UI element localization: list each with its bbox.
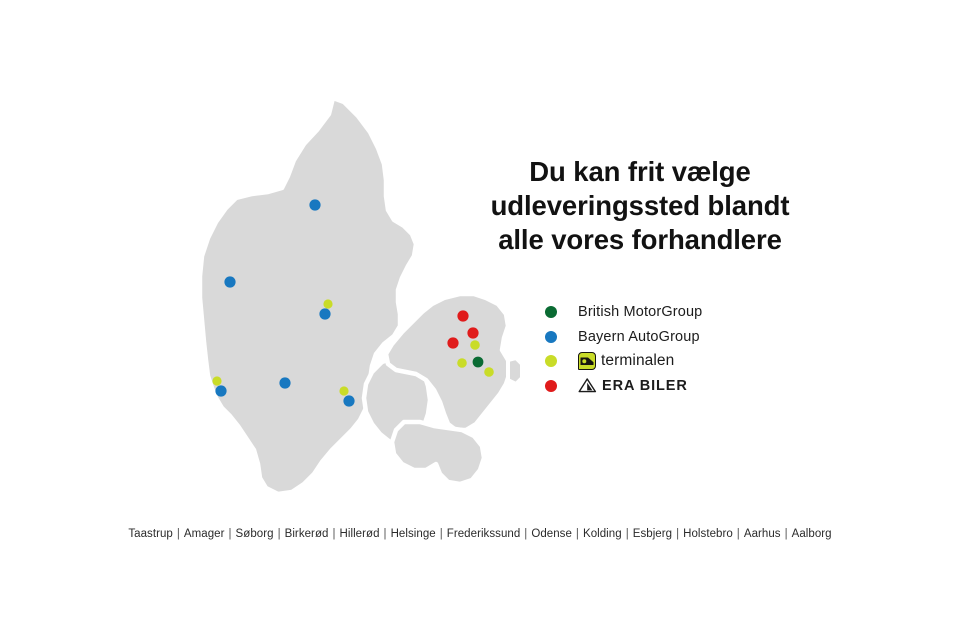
city-separator: |	[781, 528, 791, 540]
city-separator: |	[733, 528, 743, 540]
city-name[interactable]: Esbjerg	[632, 528, 672, 540]
city-name[interactable]: Søborg	[235, 528, 274, 540]
legend-item-bayern-autogroup[interactable]: Bayern AutoGroup	[545, 325, 845, 350]
map-marker[interactable]	[215, 385, 226, 396]
terminalen-logo: terminalen	[578, 352, 674, 370]
city-name[interactable]: Amager	[183, 528, 225, 540]
map-marker[interactable]	[279, 377, 290, 388]
city-name[interactable]: Taastrup	[128, 528, 174, 540]
city-separator: |	[436, 528, 446, 540]
city-name[interactable]: Odense	[531, 528, 573, 540]
map-marker[interactable]	[212, 376, 221, 385]
dot-icon	[545, 331, 557, 343]
dot-icon	[545, 306, 557, 318]
dealer-city-list: Taastrup|Amager|Søborg|Birkerød|Hillerød…	[0, 528, 960, 540]
city-name[interactable]: Holstebro	[683, 528, 734, 540]
city-separator: |	[329, 528, 339, 540]
city-name[interactable]: Frederikssund	[446, 528, 521, 540]
headline-line-2: udleveringssted blandt	[452, 189, 828, 223]
legend-item-label: British MotorGroup	[578, 304, 702, 320]
city-name[interactable]: Aarhus	[743, 528, 781, 540]
city-name[interactable]: Kolding	[582, 528, 622, 540]
map-marker[interactable]	[470, 340, 480, 350]
city-separator: |	[274, 528, 284, 540]
map-marker[interactable]	[339, 386, 348, 395]
city-separator: |	[225, 528, 235, 540]
dot-icon	[545, 355, 557, 367]
map-marker[interactable]	[447, 337, 458, 348]
legend-item-british-motorgroup[interactable]: British MotorGroup	[545, 300, 845, 325]
city-name[interactable]: Birkerød	[284, 528, 329, 540]
map-marker[interactable]	[457, 358, 467, 368]
page-title: Du kan frit vælge udleveringssted blandt…	[452, 155, 828, 257]
legend-item-terminalen[interactable]: terminalen	[545, 349, 845, 374]
city-separator: |	[673, 528, 683, 540]
map-marker[interactable]	[224, 276, 235, 287]
map-marker[interactable]	[309, 199, 320, 210]
map-marker[interactable]	[467, 327, 478, 338]
map-marker[interactable]	[323, 299, 332, 308]
region-lolland-falster	[392, 422, 484, 484]
map-marker[interactable]	[484, 367, 494, 377]
city-name[interactable]: Hillerød	[339, 528, 380, 540]
city-separator: |	[572, 528, 582, 540]
era-biler-logo: ERA BILER	[578, 378, 688, 394]
city-separator: |	[521, 528, 531, 540]
headline-line-3: alle vores forhandlere	[452, 223, 828, 257]
city-separator: |	[173, 528, 183, 540]
map-marker[interactable]	[457, 310, 468, 321]
city-name[interactable]: Aalborg	[791, 528, 832, 540]
city-name[interactable]: Helsinge	[390, 528, 436, 540]
denmark-map	[186, 92, 522, 500]
dot-icon	[545, 380, 557, 392]
era-biler-logo-icon	[578, 378, 597, 393]
poster-canvas: Du kan frit vælge udleveringssted blandt…	[0, 0, 960, 640]
map-marker[interactable]	[343, 395, 354, 406]
map-marker[interactable]	[473, 357, 484, 368]
city-separator: |	[380, 528, 390, 540]
map-marker[interactable]	[319, 308, 330, 319]
brand-legend: British MotorGroup Bayern AutoGroup term…	[545, 300, 845, 398]
headline-line-1: Du kan frit vælge	[452, 155, 828, 189]
region-bornholm	[508, 358, 522, 384]
city-separator: |	[622, 528, 632, 540]
legend-item-era-biler[interactable]: ERA BILER	[545, 374, 845, 399]
terminalen-logo-icon	[578, 352, 596, 370]
terminalen-wordmark: terminalen	[601, 352, 674, 370]
denmark-map-svg	[186, 92, 522, 500]
era-biler-wordmark: ERA BILER	[602, 378, 688, 394]
legend-item-label: Bayern AutoGroup	[578, 329, 700, 345]
